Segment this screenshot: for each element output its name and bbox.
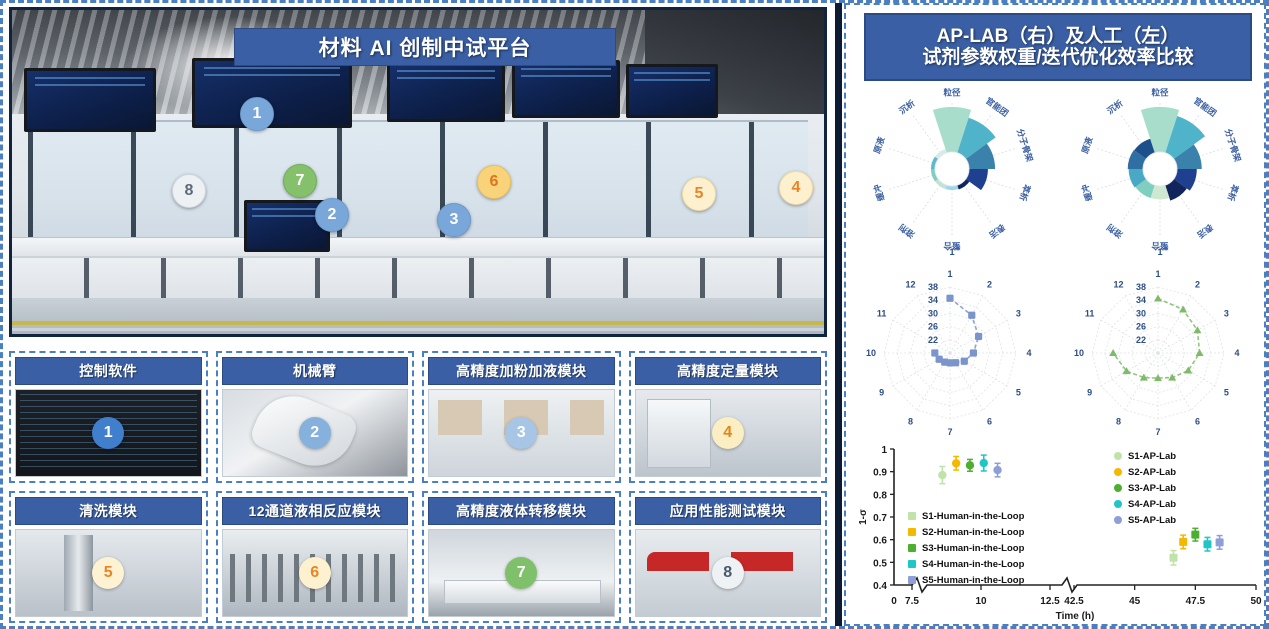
hero-badge-label: 7 xyxy=(296,172,305,190)
polar-data-marker[interactable] xyxy=(1196,349,1204,356)
polar-theta-label: 2 xyxy=(987,280,992,290)
rose-axis-label: 分子骨架 xyxy=(1015,128,1035,164)
hero-title-band: 材料 AI 创制中试平台 xyxy=(234,28,616,66)
hero-badge-3[interactable]: 3 xyxy=(437,203,471,237)
wall-monitor-4 xyxy=(512,60,620,118)
x-tick-label: 0 xyxy=(891,596,897,607)
accuracy-time-chart: 0.40.50.60.70.80.911-σ07.51012.542.54547… xyxy=(850,435,1266,625)
right-title-band: AP-LAB（右）及人工（左） 试剂参数权重/迭代优化效率比较 xyxy=(864,13,1252,81)
data-point-S4-Human-in-the-Loop[interactable] xyxy=(1203,540,1211,548)
floor-region xyxy=(12,298,824,334)
floor-marking-line-2 xyxy=(12,328,824,331)
polar-series-line xyxy=(1113,299,1199,379)
legend-label[interactable]: S3-Human-in-the-Loop xyxy=(922,543,1025,554)
polar-theta-label: 2 xyxy=(1195,280,1200,290)
cabinet-row xyxy=(12,256,824,301)
polar-r-tick: 38 xyxy=(1136,282,1146,292)
legend-label[interactable]: S2-Human-in-the-Loop xyxy=(922,527,1025,538)
rose-axis-label: 萃析 xyxy=(1017,183,1032,203)
module-card-grid: 控制软件1机械臂2高精度加粉加液模块3高精度定量模块4清洗模块512通道液相反应… xyxy=(9,351,827,623)
y-axis-title: 1-σ xyxy=(858,509,869,525)
polar-r-tick: 22 xyxy=(1136,335,1146,345)
hero-badge-6[interactable]: 6 xyxy=(477,165,511,199)
rose-axis-label: 粒径 xyxy=(943,87,961,97)
polar-data-marker[interactable] xyxy=(931,349,938,356)
polar-theta-label: 11 xyxy=(877,309,887,319)
module-card-badge-label: 3 xyxy=(517,424,526,442)
module-card-5[interactable]: 清洗模块5 xyxy=(9,491,208,623)
polar-theta-label: 10 xyxy=(866,348,876,358)
y-tick-label: 0.6 xyxy=(873,536,887,547)
rose-axis-label: 粒径 xyxy=(1151,87,1169,97)
y-tick-label: 0.9 xyxy=(873,468,887,479)
module-card-badge-4[interactable]: 4 xyxy=(712,417,744,449)
y-tick-label: 1 xyxy=(881,445,887,456)
panel-divider xyxy=(835,3,842,626)
module-card-title: 控制软件 xyxy=(15,357,202,385)
module-card-badge-label: 4 xyxy=(723,424,732,442)
rose-center-label: 1 xyxy=(949,247,954,257)
module-card-1[interactable]: 控制软件1 xyxy=(9,351,208,483)
wall-monitor-3 xyxy=(387,62,505,122)
legend-marker xyxy=(908,528,916,536)
rose-axis-label: 沉析 xyxy=(1105,98,1125,116)
polar-data-marker[interactable] xyxy=(1109,349,1117,356)
hero-badge-1[interactable]: 1 xyxy=(240,97,274,131)
rose-axis-label: 缓冲 xyxy=(871,183,886,203)
module-card-badge-label: 7 xyxy=(517,564,526,582)
rose-hole xyxy=(935,152,969,186)
hero-badge-7[interactable]: 7 xyxy=(283,164,317,198)
data-point-S4-AP-Lab[interactable] xyxy=(980,459,988,467)
right-title-line-2: 试剂参数权重/迭代优化效率比较 xyxy=(922,47,1193,68)
polar-r-tick: 38 xyxy=(928,282,938,292)
rose-axis-label: 溶剂 xyxy=(1105,222,1125,240)
hero-badge-8[interactable]: 8 xyxy=(172,174,206,208)
legend-label[interactable]: S1-Human-in-the-Loop xyxy=(922,511,1025,522)
rose-axis-label: 原液 xyxy=(1080,135,1095,155)
polar-r-tick: 30 xyxy=(928,308,938,318)
polar-chart-human: 2226303438123456789101112 xyxy=(852,261,1057,439)
x-tick-label: 42.5 xyxy=(1064,596,1084,607)
module-card-badge-1[interactable]: 1 xyxy=(92,417,124,449)
legend-label[interactable]: S3-AP-Lab xyxy=(1128,483,1176,494)
polar-data-marker[interactable] xyxy=(946,295,953,302)
module-card-title: 高精度液体转移模块 xyxy=(428,497,615,525)
wall-monitor-1 xyxy=(24,68,156,132)
x-axis-break-2 xyxy=(1050,578,1256,592)
polar-theta-label: 12 xyxy=(1113,280,1123,290)
polar-r-tick: 26 xyxy=(1136,322,1146,332)
module-card-title: 高精度加粉加液模块 xyxy=(428,357,615,385)
left-panel: 材料 AI 创制中试平台 18723654 控制软件1机械臂2高精度加粉加液模块… xyxy=(3,3,841,626)
rose-chart-aplab: 粒径官能团分子骨架萃析表活螯合溶剂缓冲原液沉析1 xyxy=(1060,83,1265,261)
polar-theta-label: 1 xyxy=(947,269,952,279)
right-panel: AP-LAB（右）及人工（左） 试剂参数权重/迭代优化效率比较 粒径官能团分子骨… xyxy=(844,3,1266,626)
polar-theta-label: 8 xyxy=(1116,416,1121,426)
rose-axis-label: 表活 xyxy=(987,221,1008,240)
hero-badge-label: 4 xyxy=(792,179,801,197)
hero-badge-2[interactable]: 2 xyxy=(315,198,349,232)
data-point-S3-AP-Lab[interactable] xyxy=(966,461,974,469)
x-tick-label: 50 xyxy=(1250,596,1262,607)
hero-badge-5[interactable]: 5 xyxy=(682,177,716,211)
polar-spoke xyxy=(1158,353,1191,410)
y-tick-label: 0.8 xyxy=(873,490,887,501)
module-card-7[interactable]: 高精度液体转移模块7 xyxy=(422,491,621,623)
polar-r-tick: 34 xyxy=(928,295,938,305)
polar-data-marker[interactable] xyxy=(936,356,943,363)
legend-marker xyxy=(1114,516,1122,524)
legend-label[interactable]: S5-AP-Lab xyxy=(1128,515,1176,526)
polar-theta-label: 4 xyxy=(1234,348,1239,358)
x-tick-label: 12.5 xyxy=(1040,596,1060,607)
module-card-badge-label: 5 xyxy=(104,564,113,582)
polar-theta-label: 11 xyxy=(1085,309,1095,319)
module-card-photo: 4 xyxy=(635,389,822,477)
rose-axis-label: 表活 xyxy=(1195,221,1216,240)
module-card-badge-label: 1 xyxy=(104,424,113,442)
module-card-badge-5[interactable]: 5 xyxy=(92,557,124,589)
polar-theta-label: 9 xyxy=(879,388,884,398)
data-point-S5-Human-in-the-Loop[interactable] xyxy=(1216,538,1224,546)
module-card-photo: 8 xyxy=(635,529,822,617)
module-card-badge-label: 8 xyxy=(723,564,732,582)
polar-data-marker[interactable] xyxy=(961,358,968,365)
floor-marking-line xyxy=(12,321,824,325)
x-tick-label: 47.5 xyxy=(1186,596,1206,607)
module-card-title: 机械臂 xyxy=(222,357,409,385)
rose-axis-label: 原液 xyxy=(872,135,887,155)
slide-root: 材料 AI 创制中试平台 18723654 控制软件1机械臂2高精度加粉加液模块… xyxy=(0,0,1269,629)
data-point-S1-Human-in-the-Loop[interactable] xyxy=(1169,554,1177,562)
module-card-badge-6[interactable]: 6 xyxy=(299,557,331,589)
rose-center-label: 1 xyxy=(1157,247,1162,257)
module-card-6[interactable]: 12通道液相反应模块6 xyxy=(216,491,415,623)
module-card-badge-label: 6 xyxy=(310,564,319,582)
legend-marker xyxy=(908,576,916,584)
legend-label[interactable]: S2-AP-Lab xyxy=(1128,467,1176,478)
module-card-4[interactable]: 高精度定量模块4 xyxy=(629,351,828,483)
legend-label[interactable]: S4-Human-in-the-Loop xyxy=(922,559,1025,570)
y-tick-label: 0.4 xyxy=(873,581,887,592)
module-card-title: 清洗模块 xyxy=(15,497,202,525)
module-card-badge-3[interactable]: 3 xyxy=(505,417,537,449)
legend-marker xyxy=(1114,484,1122,492)
polar-data-marker[interactable] xyxy=(970,349,977,356)
polar-r-tick: 30 xyxy=(1136,308,1146,318)
hero-photo-panel: 材料 AI 创制中试平台 18723654 xyxy=(9,7,827,337)
x-axis-title: Time (h) xyxy=(1056,611,1095,622)
polar-data-marker[interactable] xyxy=(975,333,982,340)
data-point-S2-AP-Lab[interactable] xyxy=(952,459,960,467)
polar-spoke xyxy=(950,353,1007,386)
rose-axis-label: 沉析 xyxy=(897,98,917,116)
polar-data-marker[interactable] xyxy=(1154,295,1162,302)
module-card-title: 应用性能测试模块 xyxy=(635,497,822,525)
legend-marker xyxy=(1114,468,1122,476)
polar-spoke xyxy=(1101,320,1158,353)
polar-theta-label: 3 xyxy=(1016,309,1021,319)
polar-theta-label: 4 xyxy=(1026,348,1031,358)
hero-badge-label: 8 xyxy=(185,182,194,200)
data-point-S2-Human-in-the-Loop[interactable] xyxy=(1179,538,1187,546)
hero-badge-label: 1 xyxy=(253,105,262,123)
polar-r-tick: 22 xyxy=(928,335,938,345)
x-tick-label: 7.5 xyxy=(905,596,919,607)
rose-chart-human: 粒径官能团分子骨架萃析表活螯合溶剂缓冲原液沉析1 xyxy=(852,83,1057,261)
rose-axis-label: 萃析 xyxy=(1225,183,1240,203)
polar-theta-label: 10 xyxy=(1074,348,1084,358)
hero-badge-label: 6 xyxy=(490,173,499,191)
rose-axis-label: 官能团 xyxy=(984,95,1011,118)
hero-badge-label: 5 xyxy=(695,185,704,203)
polar-r-tick: 34 xyxy=(1136,295,1146,305)
polar-spoke xyxy=(893,320,950,353)
module-card-photo: 7 xyxy=(428,529,615,617)
legend-marker xyxy=(1114,500,1122,508)
module-card-badge-2[interactable]: 2 xyxy=(299,417,331,449)
x-tick-label: 45 xyxy=(1129,596,1141,607)
polar-theta-label: 3 xyxy=(1224,309,1229,319)
hero-badge-label: 2 xyxy=(328,206,337,224)
polar-theta-label: 6 xyxy=(1195,416,1200,426)
module-card-photo: 6 xyxy=(222,529,409,617)
legend-marker xyxy=(1114,452,1122,460)
y-tick-label: 0.5 xyxy=(873,558,887,569)
polar-data-marker[interactable] xyxy=(968,312,975,319)
module-card-8[interactable]: 应用性能测试模块8 xyxy=(629,491,828,623)
module-card-title: 12通道液相反应模块 xyxy=(222,497,409,525)
data-point-S3-Human-in-the-Loop[interactable] xyxy=(1191,531,1199,539)
data-point-S5-AP-Lab[interactable] xyxy=(993,466,1001,474)
polar-theta-label: 12 xyxy=(905,280,915,290)
polar-theta-label: 6 xyxy=(987,416,992,426)
polar-theta-label: 1 xyxy=(1155,269,1160,279)
right-title-line-1: AP-LAB（右）及人工（左） xyxy=(937,26,1180,47)
polar-chart-aplab: 2226303438123456789101112 xyxy=(1060,261,1265,439)
polar-theta-label: 9 xyxy=(1087,388,1092,398)
rose-axis-label: 分子骨架 xyxy=(1223,128,1243,164)
polar-r-tick: 26 xyxy=(928,322,938,332)
polar-theta-label: 5 xyxy=(1224,388,1229,398)
module-card-badge-7[interactable]: 7 xyxy=(505,557,537,589)
legend-label[interactable]: S4-AP-Lab xyxy=(1128,499,1176,510)
legend-marker xyxy=(908,512,916,520)
data-point-S1-AP-Lab[interactable] xyxy=(938,471,946,479)
module-card-photo: 5 xyxy=(15,529,202,617)
module-card-badge-label: 2 xyxy=(310,424,319,442)
polar-theta-label: 5 xyxy=(1016,388,1021,398)
rose-axis-label: 缓冲 xyxy=(1079,183,1094,203)
wall-monitor-5 xyxy=(626,64,718,118)
module-card-3[interactable]: 高精度加粉加液模块3 xyxy=(422,351,621,483)
rose-axis-label: 官能团 xyxy=(1192,95,1219,118)
rose-hole xyxy=(1143,152,1177,186)
legend-label[interactable]: S1-AP-Lab xyxy=(1128,451,1176,462)
hero-badge-label: 3 xyxy=(450,211,459,229)
module-card-photo: 2 xyxy=(222,389,409,477)
x-tick-label: 10 xyxy=(975,596,987,607)
rose-axis-label: 溶剂 xyxy=(897,222,917,240)
module-card-title: 高精度定量模块 xyxy=(635,357,822,385)
legend-marker xyxy=(908,544,916,552)
hero-badge-4[interactable]: 4 xyxy=(779,171,813,205)
module-card-photo: 3 xyxy=(428,389,615,477)
hero-title-text: 材料 AI 创制中试平台 xyxy=(319,32,532,62)
polar-theta-label: 8 xyxy=(908,416,913,426)
module-card-2[interactable]: 机械臂2 xyxy=(216,351,415,483)
legend-label[interactable]: S5-Human-in-the-Loop xyxy=(922,575,1025,586)
legend-marker xyxy=(908,560,916,568)
module-card-badge-8[interactable]: 8 xyxy=(712,557,744,589)
y-tick-label: 0.7 xyxy=(873,513,887,524)
module-card-photo: 1 xyxy=(15,389,202,477)
